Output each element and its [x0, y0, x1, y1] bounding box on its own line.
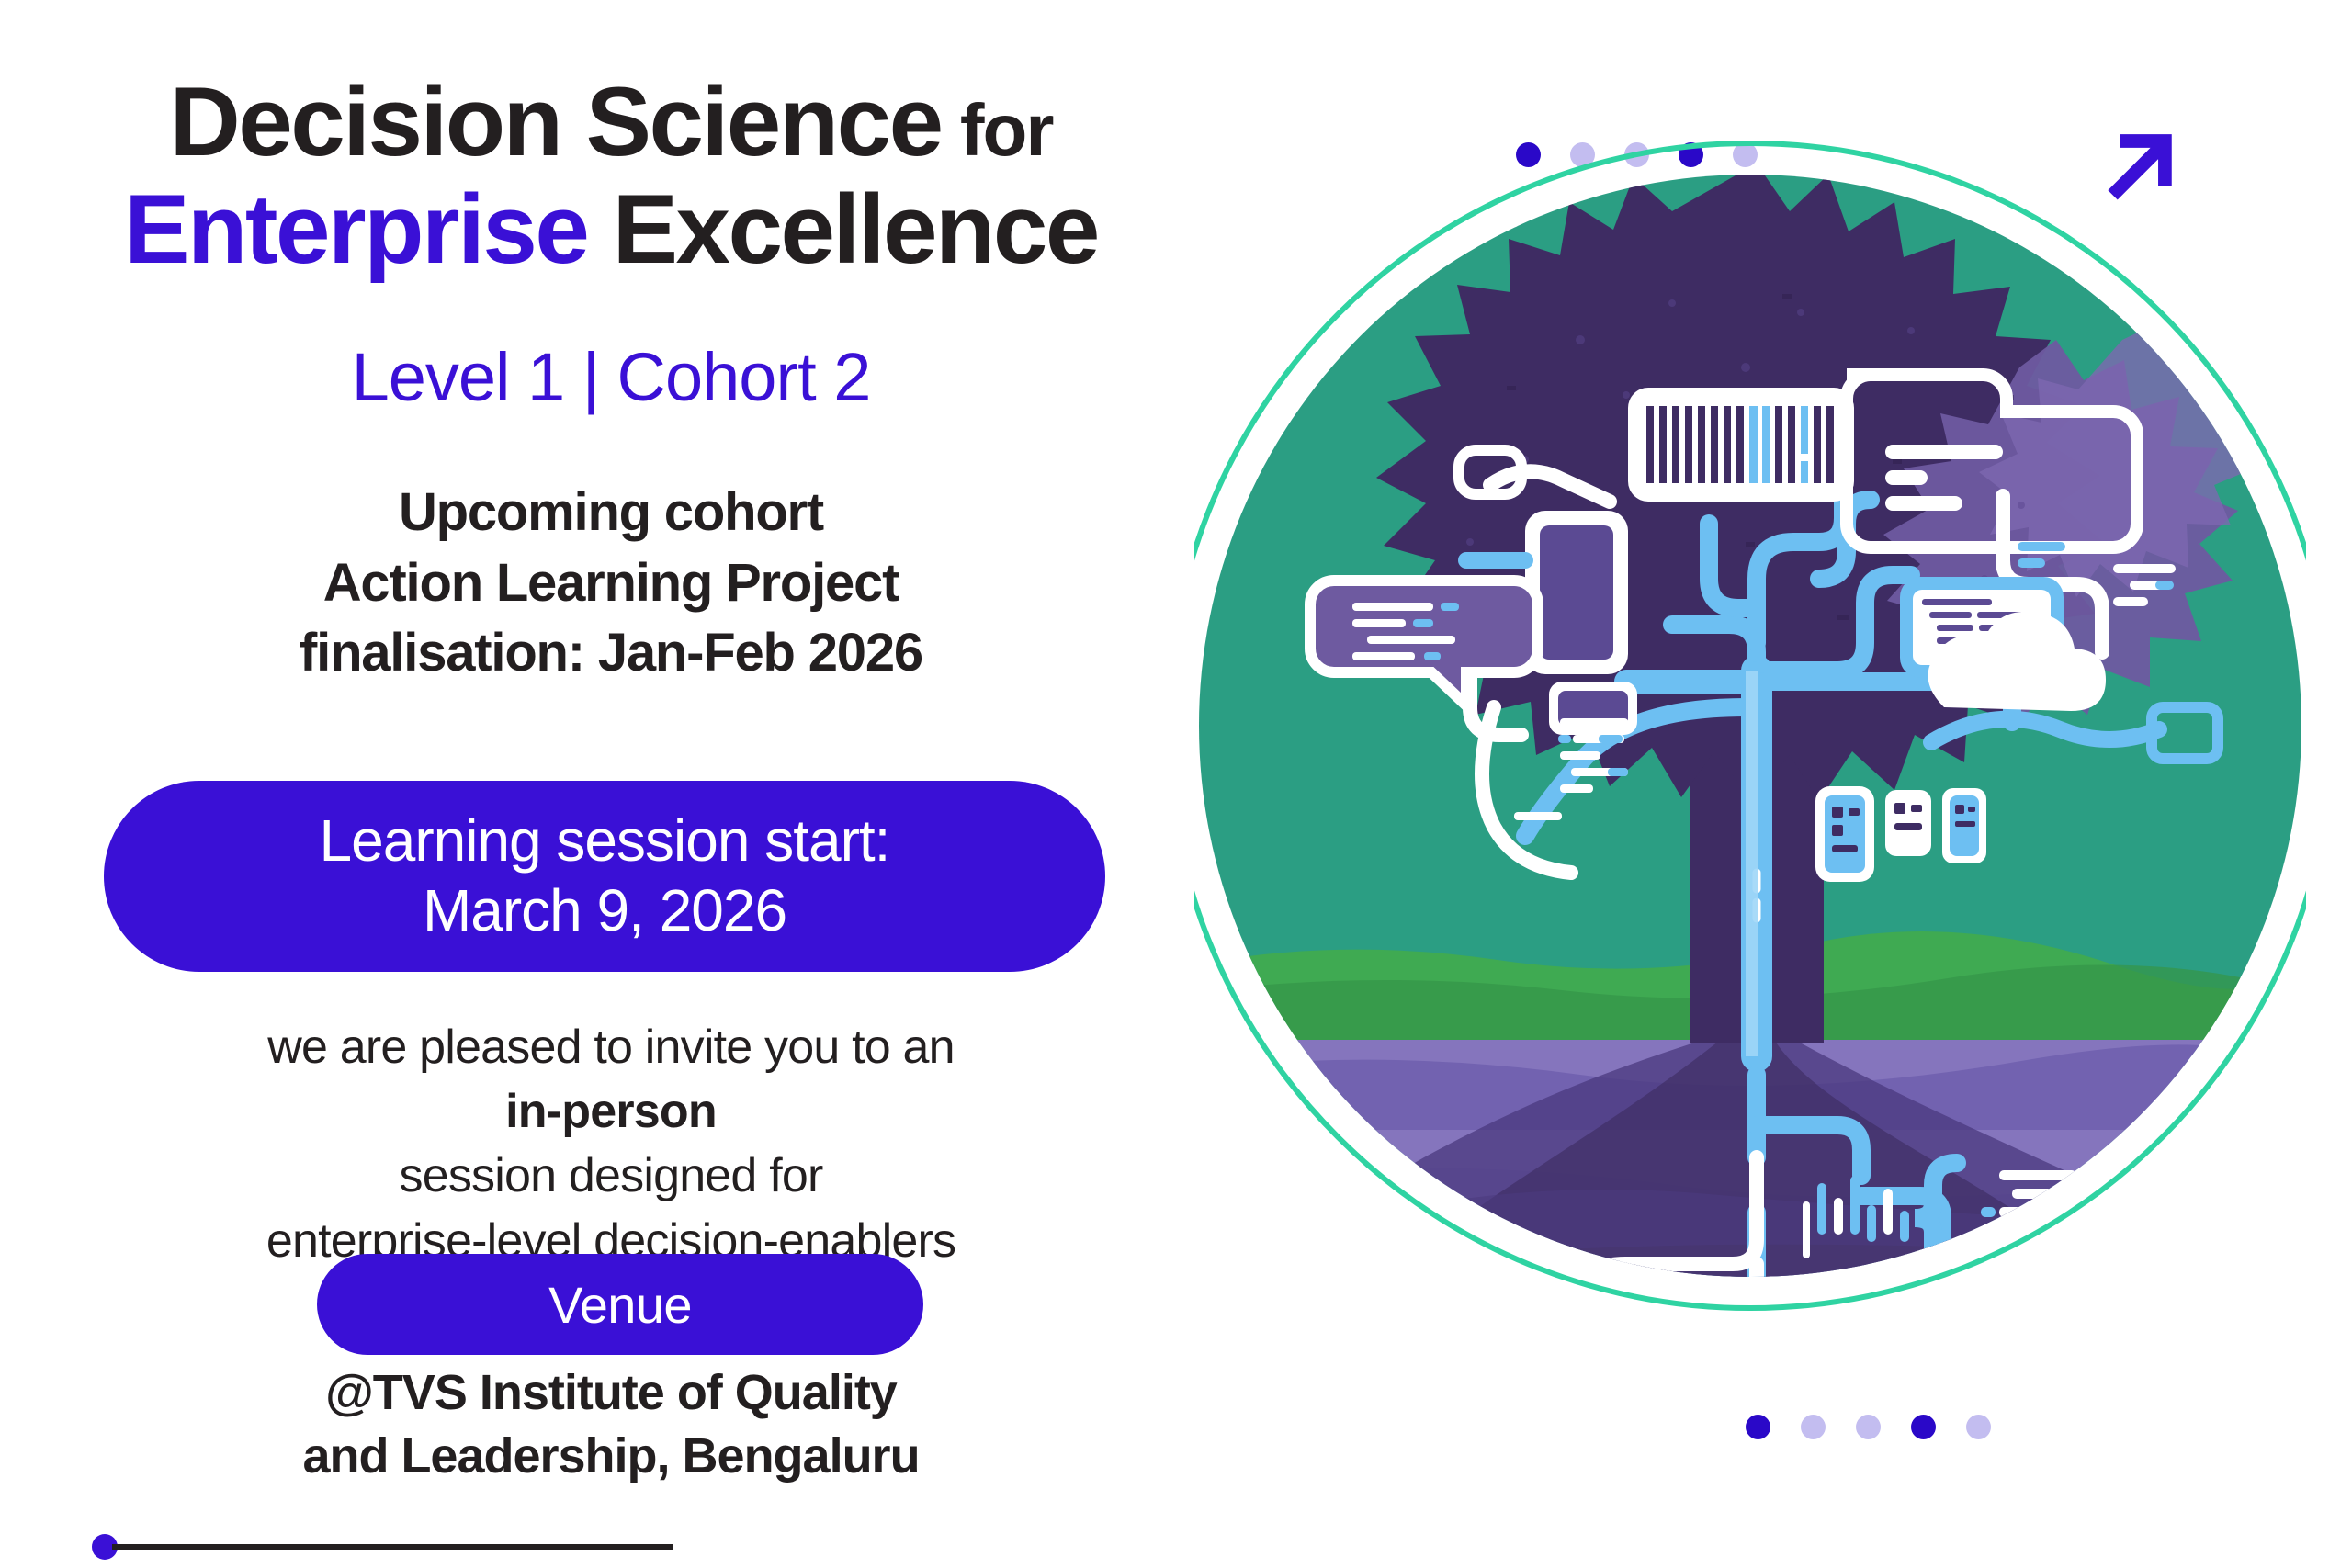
divider-line: [112, 1544, 673, 1550]
venue-address-line-1: @TVS Institute of Quality: [0, 1361, 1222, 1425]
invite-line-2: in-person session designed for: [0, 1079, 1222, 1208]
invitation-paragraph: we are pleased to invite you to an in-pe…: [0, 1015, 1222, 1273]
headline-for-text: for: [942, 89, 1053, 171]
left-content-column: Decision Science for Enterprise Excellen…: [0, 0, 1222, 1568]
cohort-line-3: finalisation: Jan-Feb 2026: [0, 618, 1222, 689]
trunk-highlight: [1746, 671, 1758, 1056]
page-title: Decision Science for Enterprise Excellen…: [0, 72, 1222, 279]
dot-1: [1746, 1415, 1770, 1439]
root-toggle-icons: [1803, 1282, 1854, 1380]
illustration-svg: [1194, 64, 2306, 1387]
cohort-line-1: Upcoming cohort: [0, 478, 1222, 548]
invite-line-2-rest: session designed for: [0, 1144, 1222, 1208]
soil-texture-3: [1194, 1274, 2306, 1387]
venue-address: @TVS Institute of Quality and Leadership…: [0, 1361, 1222, 1488]
session-badge-line-1: Learning session start:: [320, 807, 890, 876]
root-accent-line: [1637, 1350, 1648, 1387]
dot-3: [1856, 1415, 1881, 1439]
headline-accent-text: Enterprise: [124, 174, 587, 284]
cohort-info-block: Upcoming cohort Action Learning Project …: [0, 478, 1222, 689]
dot-2: [1801, 1415, 1826, 1439]
headline-main-text: Decision Science: [169, 66, 941, 176]
chip-device: [1549, 682, 1637, 735]
venue-address-line-2: and Leadership, Bengaluru: [0, 1425, 1222, 1488]
headline-line-1: Decision Science for: [0, 72, 1222, 172]
venue-badge-label: Venue: [548, 1275, 692, 1335]
bottom-divider: [92, 1531, 680, 1562]
dot-5: [1966, 1415, 1991, 1439]
decorative-dots-bottom: [1746, 1415, 1991, 1439]
invite-line-1: we are pleased to invite you to an: [0, 1015, 1222, 1079]
data-tree-circle-illustration: [1194, 64, 2306, 1387]
venue-badge[interactable]: Venue: [317, 1254, 923, 1355]
headline-line-2: Enterprise Excellence: [0, 179, 1222, 279]
subtitle-level-cohort: Level 1 | Cohort 2: [0, 338, 1222, 416]
headline-rest-text: Excellence: [587, 174, 1097, 284]
illustration-scene: [1194, 64, 2306, 1387]
session-badge-line-2: March 9, 2026: [320, 876, 890, 946]
cohort-line-2: Action Learning Project: [0, 548, 1222, 619]
learning-session-start-badge[interactable]: Learning session start: March 9, 2026: [104, 781, 1105, 972]
dot-4: [1911, 1415, 1936, 1439]
invite-bold-in-person: in-person: [505, 1085, 717, 1138]
barcode-card: [1628, 388, 1854, 502]
poster-canvas: Decision Science for Enterprise Excellen…: [0, 0, 2352, 1568]
